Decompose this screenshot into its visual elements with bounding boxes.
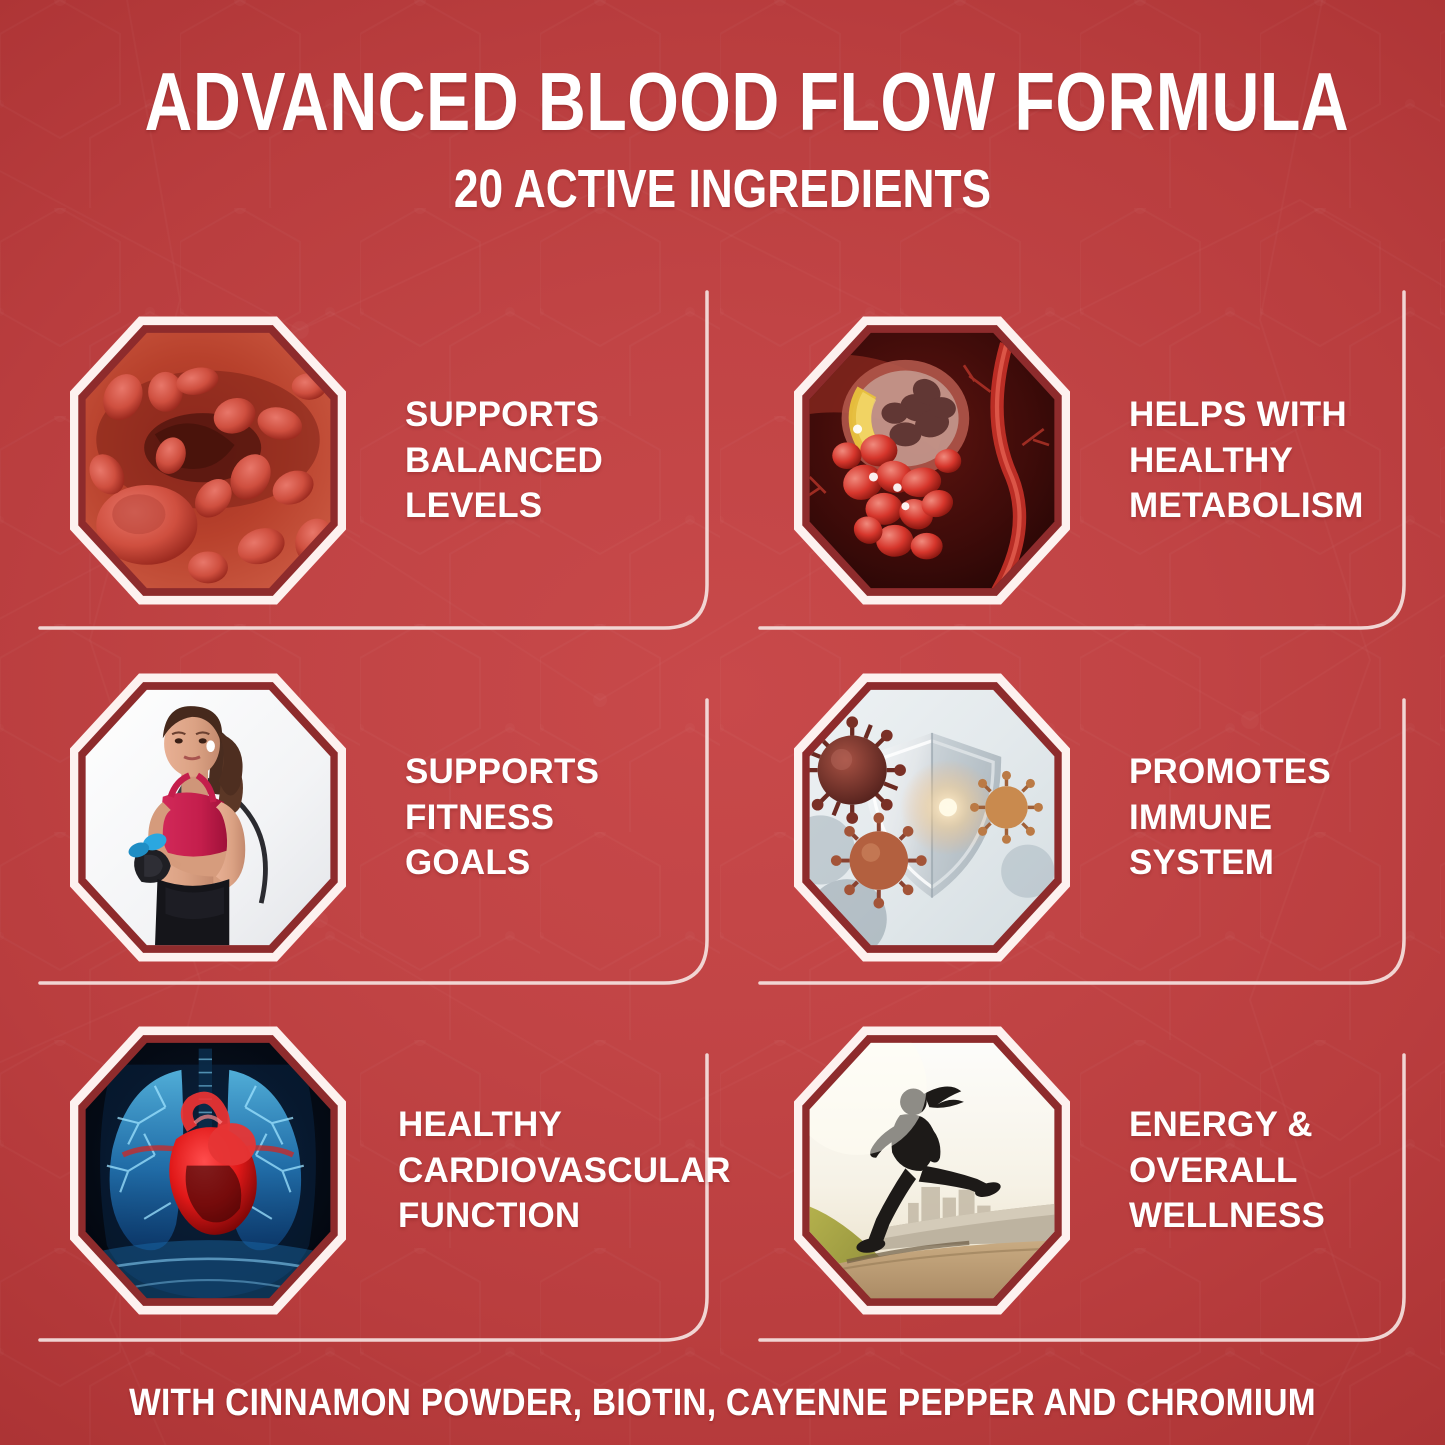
benefit-image-red-blood-cells-in-vessel [58, 311, 358, 611]
benefit-cell-promotes-immune-system: PROMOTES IMMUNE SYSTEM [782, 665, 1422, 970]
benefit-cell-healthy-cardiovascular-function: HEALTHY CARDIOVASCULAR FUNCTION [58, 1018, 718, 1323]
benefit-image-woman-running-outdoors [782, 1021, 1082, 1321]
benefit-image-artery-cross-section-with-plaque [782, 311, 1082, 611]
benefit-image-xray-heart-and-lungs [58, 1021, 358, 1321]
page-title: ADVANCED BLOOD FLOW FORMULA [145, 62, 1301, 142]
benefit-cell-supports-fitness-goals: SUPPORTS FITNESS GOALS [58, 665, 698, 970]
page-subtitle: 20 ACTIVE INGREDIENTS [130, 158, 1315, 220]
header-block: ADVANCED BLOOD FLOW FORMULA 20 ACTIVE IN… [0, 0, 1445, 220]
benefit-label: SUPPORTS FITNESS GOALS [405, 749, 665, 886]
benefit-cell-helps-with-healthy-metabolism: HELPS WITH HEALTHY METABOLISM [782, 308, 1422, 613]
benefit-cell-supports-balanced-levels: SUPPORTS BALANCED LEVELS [58, 308, 698, 613]
benefit-cell-energy-and-overall-wellness: ENERGY & OVERALL WELLNESS [782, 1018, 1422, 1323]
benefit-label: SUPPORTS BALANCED LEVELS [405, 392, 675, 529]
benefit-image-shield-deflecting-viruses [782, 668, 1082, 968]
infographic-poster: ADVANCED BLOOD FLOW FORMULA 20 ACTIVE IN… [0, 0, 1445, 1445]
benefit-label: HEALTHY CARDIOVASCULAR FUNCTION [398, 1102, 728, 1239]
benefit-label: PROMOTES IMMUNE SYSTEM [1129, 749, 1389, 886]
benefit-label: ENERGY & OVERALL WELLNESS [1129, 1102, 1379, 1239]
benefit-image-woman-with-jump-rope [58, 668, 358, 968]
footer-tagline: WITH CINNAMON POWDER, BIOTIN, CAYENNE PE… [87, 1382, 1359, 1425]
benefit-label: HELPS WITH HEALTHY METABOLISM [1129, 392, 1419, 529]
